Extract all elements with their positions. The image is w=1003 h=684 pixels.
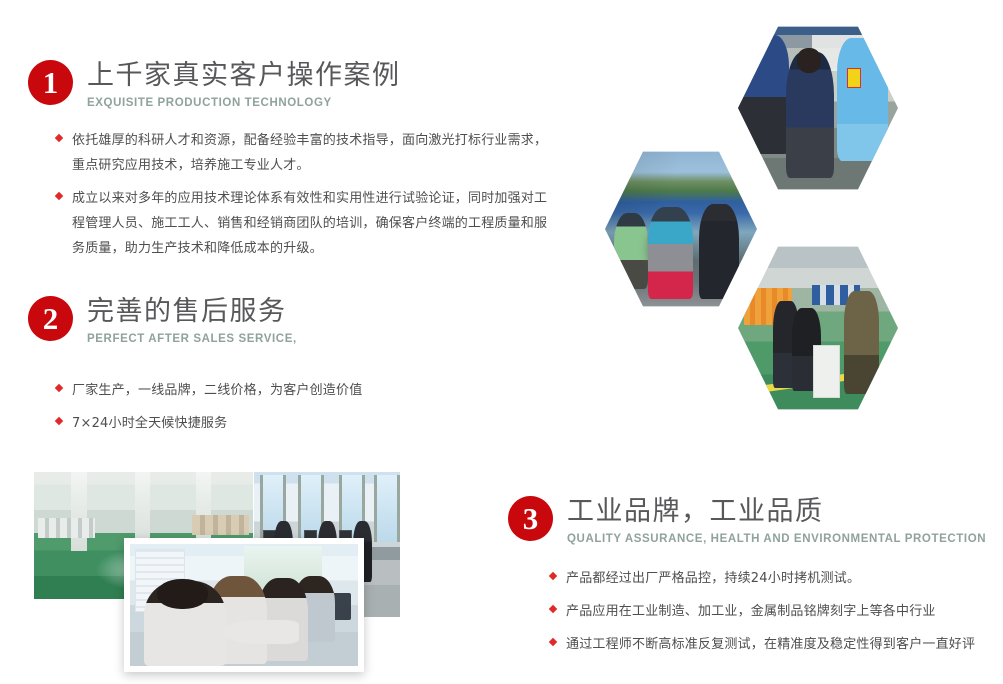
section-2-title-cn: 完善的售后服务 (87, 297, 297, 327)
section-2-heading: 2 完善的售后服务 PERFECT AFTER SALES SERVICE, (28, 296, 297, 345)
section-3-bullet-2: 产品应用在工业制造、加工业，金属制品铭牌刻字上等各中行业 (566, 599, 936, 624)
list-item: 成立以来对多年的应用技术理论体系有效性和实用性进行试验论证，同时加强对工程管理人… (56, 186, 548, 261)
call-center-service-photo (124, 538, 364, 672)
photo-content (738, 25, 898, 191)
photo-figure (797, 48, 821, 73)
photo-figure (837, 38, 888, 161)
photo-figure (374, 475, 400, 542)
section-1-heading-text: 上千家真实客户操作案例 EXQUISITE PRODUCTION TECHNOL… (87, 60, 401, 109)
photo-figure (847, 68, 861, 88)
list-item: 7×24小时全天候快捷服务 (56, 411, 516, 436)
section-3-bullet-1: 产品都经过出厂严格品控，持续24小时拷机测试。 (566, 566, 860, 591)
diamond-bullet-icon (549, 605, 557, 613)
diamond-bullet-icon (55, 192, 63, 200)
section-3-number-badge: 3 (508, 496, 553, 541)
photo-figure (157, 579, 207, 608)
photo-figure (192, 515, 249, 535)
section-2-title-en: PERFECT AFTER SALES SERVICE, (87, 333, 297, 345)
section-3-heading-text: 工业品牌，工业品质 QUALITY ASSURANCE, HEALTH AND … (567, 496, 986, 545)
section-2-number-badge: 2 (28, 296, 73, 341)
photo-figure (738, 35, 789, 155)
section-1-bullet-list: 依托雄厚的科研人才和资源，配备经验丰富的技术指导，面向激光打标行业需求，重点研究… (56, 128, 548, 261)
section-3-heading: 3 工业品牌，工业品质 QUALITY ASSURANCE, HEALTH AN… (508, 496, 986, 545)
diamond-bullet-icon (55, 134, 63, 142)
diamond-bullet-icon (55, 384, 63, 392)
engineers-operating-machine-photo (738, 25, 898, 191)
diamond-bullet-icon (549, 572, 557, 580)
section-3-bullet-3: 通过工程师不断高标准反复测试，在精准度及稳定性得到客户一直好评 (566, 632, 975, 657)
photo-content (738, 245, 898, 411)
list-item: 通过工程师不断高标准反复测试，在精准度及稳定性得到客户一直好评 (550, 632, 990, 657)
diamond-bullet-icon (55, 417, 63, 425)
photo-figure (813, 345, 840, 398)
section-1-heading: 1 上千家真实客户操作案例 EXQUISITE PRODUCTION TECHN… (28, 60, 401, 109)
section-1-bullet-1: 依托雄厚的科研人才和资源，配备经验丰富的技术指导，面向激光打标行业需求，重点研究… (72, 128, 548, 178)
list-item: 厂家生产，一线品牌，二线价格，为客户创造价值 (56, 378, 516, 403)
list-item: 依托雄厚的科研人才和资源，配备经验丰富的技术指导，面向激光打标行业需求，重点研究… (56, 128, 548, 178)
factory-warehouse-photo (738, 245, 898, 411)
photo-figure (699, 204, 739, 299)
section-2-heading-text: 完善的售后服务 PERFECT AFTER SALES SERVICE, (87, 296, 297, 345)
photo-figure (71, 472, 86, 551)
section-2-bullet-list: 厂家生产，一线品牌，二线价格，为客户创造价值 7×24小时全天候快捷服务 (56, 378, 516, 436)
section-2-bullet-1: 厂家生产，一线品牌，二线价格，为客户创造价值 (72, 378, 362, 403)
section-1-bullet-2: 成立以来对多年的应用技术理论体系有效性和实用性进行试验论证，同时加强对工程管理人… (72, 186, 548, 261)
section-3-title-cn: 工业品牌，工业品质 (567, 497, 986, 527)
list-item: 产品都经过出厂严格品控，持续24小时拷机测试。 (550, 566, 990, 591)
section-2-bullet-2: 7×24小时全天候快捷服务 (72, 411, 227, 436)
section-1-title-cn: 上千家真实客户操作案例 (87, 61, 401, 91)
photo-figure (221, 620, 299, 644)
section-3-title-en: QUALITY ASSURANCE, HEALTH AND ENVIRONMEN… (567, 533, 986, 545)
section-1-title-en: EXQUISITE PRODUCTION TECHNOLOGY (87, 97, 401, 109)
section-1-number-badge: 1 (28, 60, 73, 105)
list-item: 产品应用在工业制造、加工业，金属制品铭牌刻字上等各中行业 (550, 599, 990, 624)
customers-exhibition-photo (605, 150, 757, 308)
photo-figure (844, 291, 879, 394)
photo-figure (38, 518, 95, 538)
promo-page: 1 上千家真实客户操作案例 EXQUISITE PRODUCTION TECHN… (0, 0, 1003, 684)
diamond-bullet-icon (549, 638, 557, 646)
photo-figure (651, 229, 684, 270)
section-3-bullet-list: 产品都经过出厂严格品控，持续24小时拷机测试。 产品应用在工业制造、加工业，金属… (550, 566, 990, 657)
photo-content (605, 150, 757, 308)
